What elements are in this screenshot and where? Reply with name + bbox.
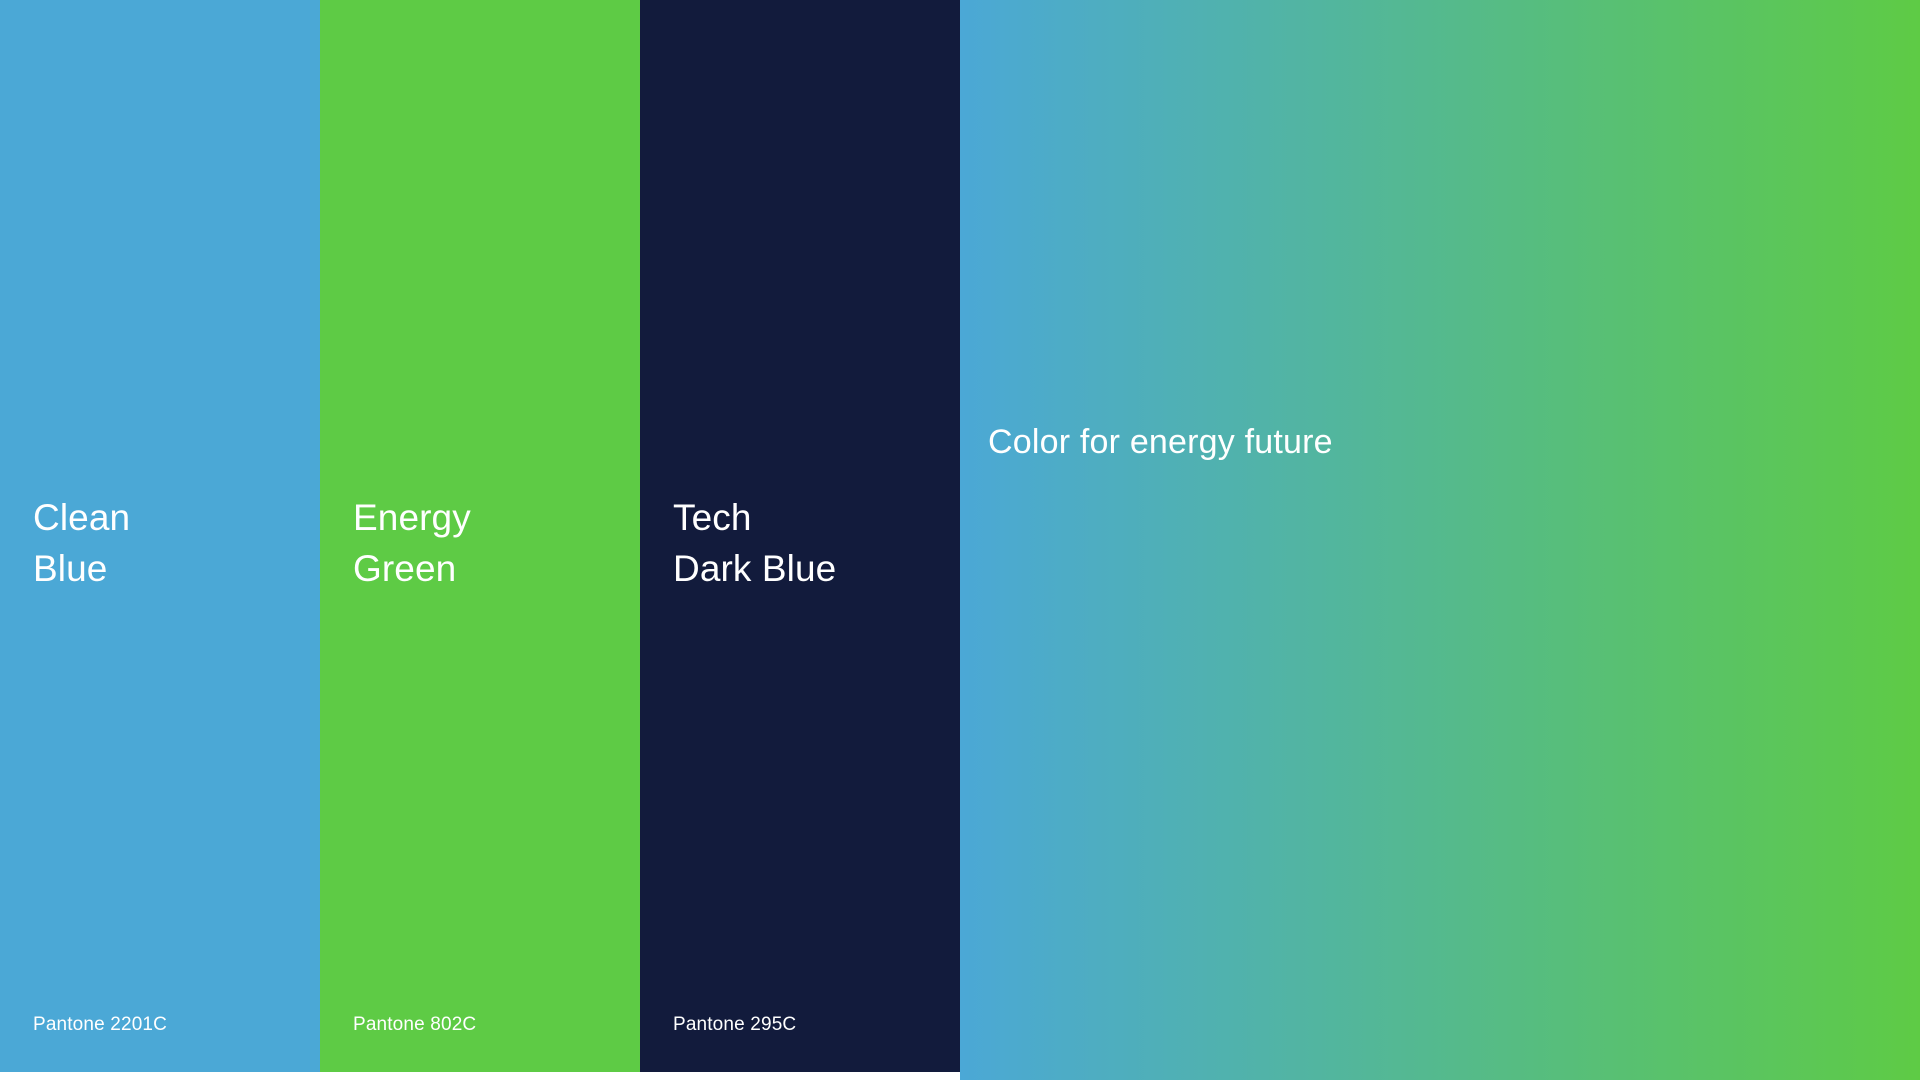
gradient-showcase-panel [960, 0, 1920, 1080]
swatch-pantone-energy-green: Pantone 802C [353, 1013, 476, 1037]
gradient-headline: Color for energy future [988, 419, 1333, 466]
color-swatch-clean-blue[interactable]: Clean Blue Pantone 2201C [0, 0, 320, 1072]
color-swatch-tech-dark-blue[interactable]: Tech Dark Blue Pantone 295C [640, 0, 960, 1072]
swatch-pantone-tech-dark-blue: Pantone 295C [673, 1013, 796, 1037]
swatch-name-clean-blue: Clean Blue [33, 492, 130, 594]
swatch-pantone-clean-blue: Pantone 2201C [33, 1013, 167, 1037]
color-palette-board: Clean Blue Pantone 2201C Energy Green Pa… [0, 0, 1920, 1080]
swatch-name-tech-dark-blue: Tech Dark Blue [673, 492, 836, 594]
swatch-name-energy-green: Energy Green [353, 492, 471, 594]
color-swatch-energy-green[interactable]: Energy Green Pantone 802C [320, 0, 640, 1072]
